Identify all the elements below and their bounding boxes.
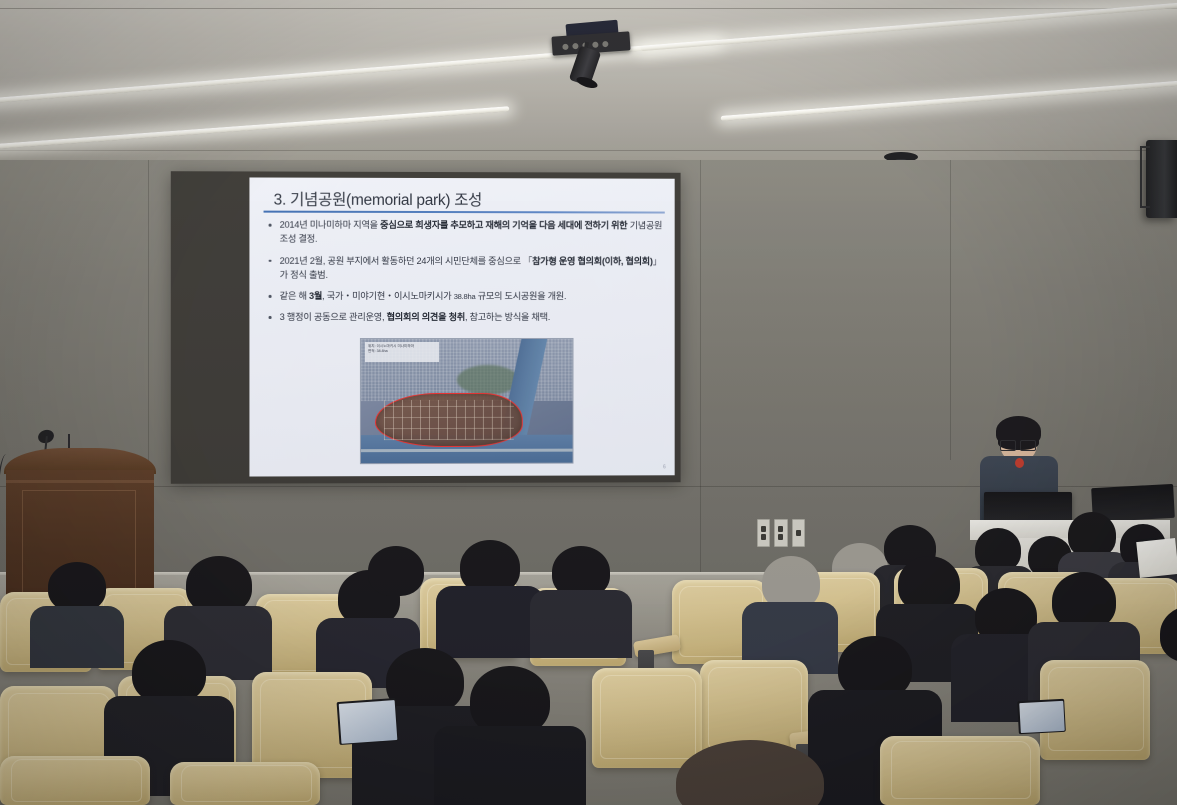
wall-outlets[interactable] — [757, 519, 805, 545]
outlet-plate[interactable] — [757, 519, 770, 547]
bullet-seg-small: 38.8ha — [454, 292, 476, 301]
auditorium-seat[interactable] — [592, 668, 702, 768]
slide-title: 3. 기념공원(memorial park) 조성 — [274, 188, 661, 211]
outlet-plate[interactable] — [774, 519, 787, 547]
bullet-seg-bold: 3월 — [309, 291, 322, 301]
photo-caption: 위치: 이시노마키시 미나미하마 면적: 38.8ha — [365, 342, 439, 362]
led-light-strip — [721, 76, 1177, 121]
bullet-seg: 3 행정이 공동으로 관리운영, — [280, 312, 387, 322]
led-light-strip — [0, 106, 509, 151]
aerial-photo: 위치: 이시노마키시 미나미하마 면적: 38.8ha — [360, 338, 574, 464]
spotlight-rig — [546, 14, 636, 84]
presentation-slide: 3. 기념공원(memorial park) 조성 2014년 미나미하마 지역… — [249, 177, 674, 476]
auditorium-seat[interactable] — [170, 762, 320, 805]
bullet-seg-bold: 협의회의 의견을 청취 — [387, 312, 465, 322]
auditorium-seat[interactable] — [880, 736, 1040, 805]
projection-screen: 3. 기념공원(memorial park) 조성 2014년 미나미하마 지역… — [171, 171, 681, 484]
slide-bullet: 3 행정이 공동으로 관리운영, 협의회의 의견을 청취, 참고하는 방식을 채… — [264, 310, 663, 324]
park-site-outline — [375, 393, 523, 447]
slide-bullet-list: 2014년 미나미하마 지역을 중심으로 희생자를 추모하고 재해의 기억을 다… — [264, 218, 663, 332]
lanyard-badge — [1015, 458, 1024, 468]
bullet-seg: 2014년 미나미하마 지역을 — [280, 220, 381, 230]
bullet-seg-bold: 중심으로 희생자를 추모하고 재해의 기억을 다음 세대에 전하기 위한 — [380, 220, 627, 230]
auditorium-seat[interactable] — [0, 756, 150, 805]
handout-paper[interactable] — [1136, 538, 1177, 578]
laptop[interactable] — [1017, 699, 1066, 734]
photo-caption-line: 면적: 38.8ha — [368, 349, 436, 354]
slide-bullet: 2014년 미나미하마 지역을 중심으로 희생자를 추모하고 재해의 기억을 다… — [264, 218, 663, 247]
wall-speaker — [1146, 140, 1177, 218]
lecture-hall-photo: 3. 기념공원(memorial park) 조성 2014년 미나미하마 지역… — [0, 0, 1177, 805]
bullet-seg: 규모의 도시공원을 개원. — [475, 291, 566, 301]
bullet-seg-bold: 참가형 운영 협의회(이하, 협의회) — [532, 256, 653, 266]
bullet-seg: , 참고하는 방식을 채택. — [465, 312, 550, 322]
outlet-plate[interactable] — [792, 519, 805, 547]
glasses-icon — [1000, 440, 1036, 449]
slide-title-rule — [264, 211, 665, 214]
bullet-seg: , 국가・미야기현・이시노마키시가 — [322, 291, 454, 301]
slide-bullet: 같은 해 3월, 국가・미야기현・이시노마키시가 38.8ha 규모의 도시공원… — [264, 289, 663, 303]
slide-bullet: 2021년 2월, 공원 부지에서 활동하던 24개의 시민단체를 중심으로 「… — [264, 253, 663, 282]
bullet-seg: 2021년 2월, 공원 부지에서 활동하던 24개의 시민단체를 중심으로 「 — [280, 255, 532, 265]
laptop[interactable] — [337, 698, 399, 745]
slide-page-number: 6 — [663, 464, 666, 470]
bullet-seg: 같은 해 — [280, 291, 309, 301]
